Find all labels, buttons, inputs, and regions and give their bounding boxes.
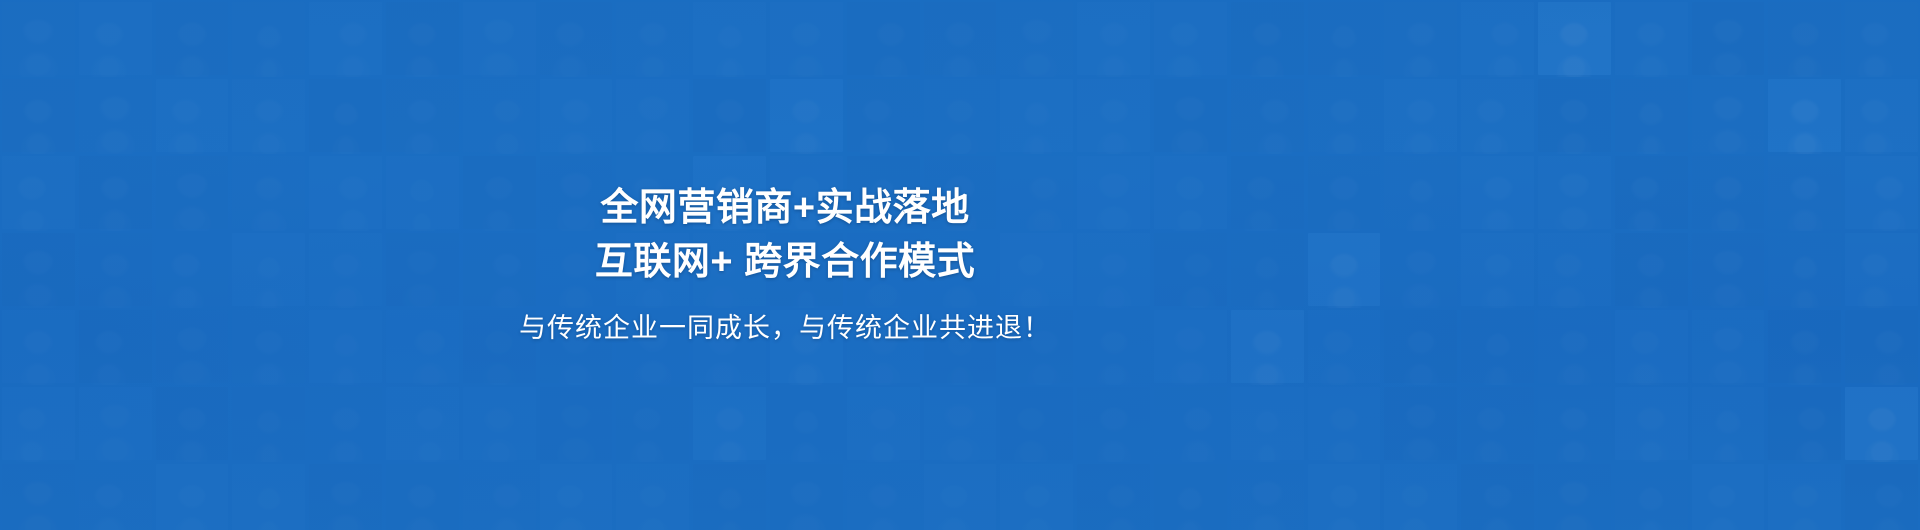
banner-copy: 全网营销商+实战落地 互联网+ 跨界合作模式 与传统企业一同成长，与传统企业共进… bbox=[0, 0, 1570, 530]
banner-headline: 全网营销商+实战落地 互联网+ 跨界合作模式 bbox=[595, 182, 975, 290]
headline-line-2: 互联网+ 跨界合作模式 bbox=[595, 236, 975, 290]
headline-line-1: 全网营销商+实战落地 bbox=[600, 187, 969, 229]
banner-subtitle: 与传统企业一同成长，与传统企业共进退！ bbox=[519, 310, 1051, 348]
hero-banner: 全网营销商+实战落地 互联网+ 跨界合作模式 与传统企业一同成长，与传统企业共进… bbox=[0, 0, 1920, 530]
